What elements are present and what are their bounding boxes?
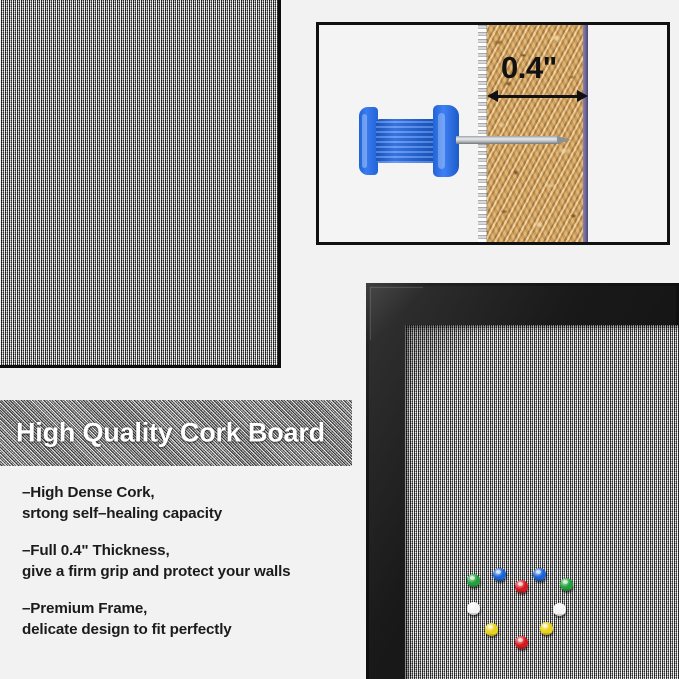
- feature-line-2: give a firm grip and protect your walls: [22, 562, 352, 583]
- feature-line-1: –High Dense Cork,: [22, 483, 352, 504]
- pushpin-needle-tip: [557, 136, 571, 144]
- diagram-inner: 0.4": [319, 25, 667, 242]
- pushpin-barrel: [376, 119, 438, 163]
- pushpin-needle: [456, 136, 560, 144]
- thickness-dimension-arrow: [487, 89, 588, 103]
- feature-line-2: srtong self–healing capacity: [22, 504, 352, 525]
- white-pin-right: [553, 603, 566, 616]
- feature-line-1: –Full 0.4" Thickness,: [22, 541, 352, 562]
- thickness-diagram-panel: 0.4": [316, 22, 670, 245]
- green-pin-right: [560, 578, 573, 591]
- feature-line-2: delicate design to fit perfectly: [22, 620, 352, 641]
- framed-cork-board-photo: [366, 283, 679, 679]
- yellow-pin-right: [540, 622, 553, 635]
- feature-item: –Premium Frame, delicate design to fit p…: [22, 599, 352, 640]
- arrowhead-right-icon: [577, 90, 588, 102]
- red-pin-lower: [515, 636, 528, 649]
- feature-line-1: –Premium Frame,: [22, 599, 352, 620]
- blue-pin-left: [493, 568, 506, 581]
- feature-list: –High Dense Cork, srtong self–healing ca…: [22, 483, 352, 657]
- fabric-texture-swatch: [0, 0, 281, 368]
- infographic-canvas: 0.4" High Quality Cork Board –High Dense…: [0, 0, 679, 679]
- green-pin-left: [467, 574, 480, 587]
- yellow-pin-left: [485, 623, 498, 636]
- blue-pin-right: [533, 568, 546, 581]
- white-pin-left: [467, 602, 480, 615]
- dimension-bar: [493, 95, 582, 98]
- backing-board-layer: [583, 25, 588, 242]
- page-title: High Quality Cork Board: [16, 418, 325, 449]
- feature-item: –High Dense Cork, srtong self–healing ca…: [22, 483, 352, 524]
- headline-banner: High Quality Cork Board: [0, 400, 352, 466]
- feature-item: –Full 0.4" Thickness, give a firm grip a…: [22, 541, 352, 582]
- blue-pushpin-icon: [359, 105, 509, 177]
- red-pin-upper: [515, 580, 528, 593]
- thickness-dimension-label: 0.4": [501, 50, 557, 86]
